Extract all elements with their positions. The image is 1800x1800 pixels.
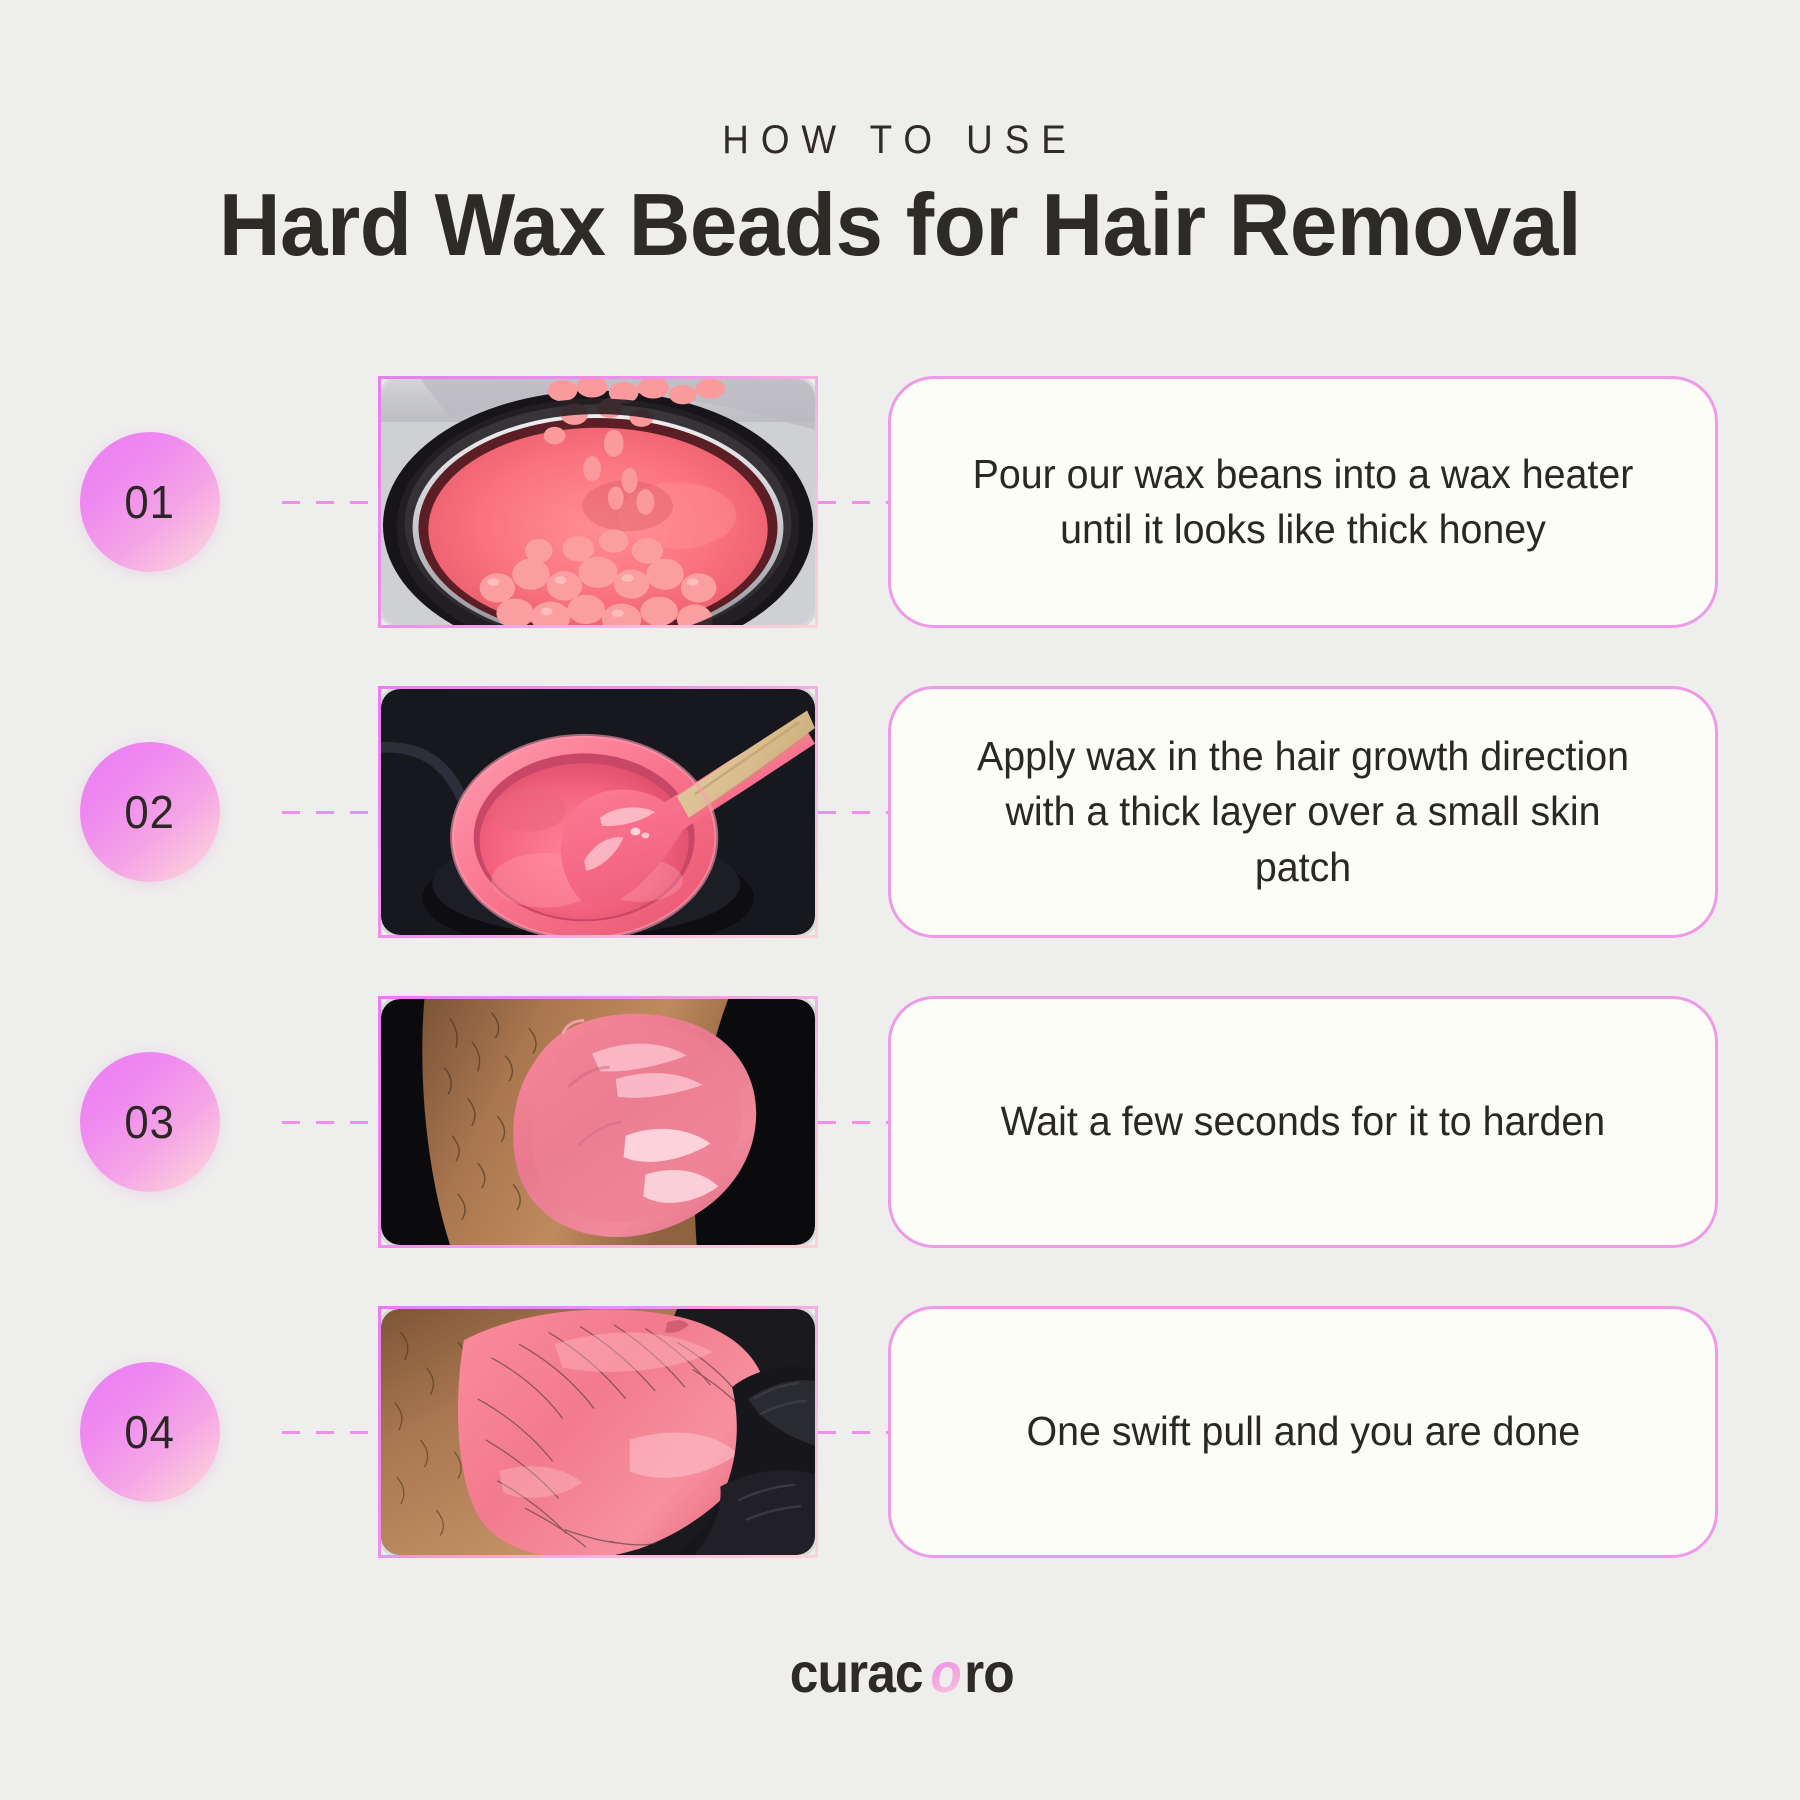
step-row-04: 04 xyxy=(0,1298,1800,1566)
step-photo-02-frame xyxy=(381,689,815,935)
hardened-wax-strip-being-pulled-photo xyxy=(381,1309,815,1555)
wax-heater-pot-with-beads-pouring-photo xyxy=(381,379,815,625)
step-photo-04-frame xyxy=(381,1309,815,1555)
step-row-02: 02 xyxy=(0,678,1800,946)
page-header: HOW TO USE Hard Wax Beads for Hair Remov… xyxy=(0,118,1800,275)
steps-list: 01 xyxy=(0,368,1800,1566)
step-photo-01 xyxy=(378,376,818,628)
step-number-label: 03 xyxy=(125,1095,176,1149)
step-number-label: 02 xyxy=(125,785,176,839)
logo-accent-letter: o xyxy=(930,1640,961,1705)
logo-suffix: ro xyxy=(964,1640,1014,1705)
connector-dash-right-03 xyxy=(818,1121,888,1124)
connector-dash-right-02 xyxy=(818,811,888,814)
connector-dash-right-01 xyxy=(818,501,888,504)
badge-slot-02: 02 xyxy=(0,742,300,882)
step-photo-02 xyxy=(378,686,818,938)
step-text-03: Wait a few seconds for it to harden xyxy=(1001,1094,1606,1149)
step-card-03[interactable]: Wait a few seconds for it to harden xyxy=(888,996,1718,1248)
step-row-01: 01 xyxy=(0,368,1800,636)
logo-prefix: curac xyxy=(790,1640,923,1705)
step-card-04[interactable]: One swift pull and you are done xyxy=(888,1306,1718,1558)
step-photo-03 xyxy=(378,996,818,1248)
step-number-label: 04 xyxy=(125,1405,176,1459)
badge-slot-01: 01 xyxy=(0,432,300,572)
step-photo-04 xyxy=(378,1306,818,1558)
step-badge-03[interactable]: 03 xyxy=(80,1052,220,1192)
step-text-02: Apply wax in the hair growth direction w… xyxy=(965,729,1641,895)
pink-wax-pot-with-wooden-spatula-photo xyxy=(381,689,815,935)
step-text-01: Pour our wax beans into a wax heater unt… xyxy=(965,447,1641,558)
step-badge-02[interactable]: 02 xyxy=(80,742,220,882)
badge-slot-04: 04 xyxy=(0,1362,300,1502)
brand-logo[interactable]: curacoro xyxy=(0,1640,1800,1705)
step-badge-01[interactable]: 01 xyxy=(80,432,220,572)
step-card-02[interactable]: Apply wax in the hair growth direction w… xyxy=(888,686,1718,938)
step-photo-03-frame xyxy=(381,999,815,1245)
step-badge-04[interactable]: 04 xyxy=(80,1362,220,1502)
badge-slot-03: 03 xyxy=(0,1052,300,1192)
page-title: Hard Wax Beads for Hair Removal xyxy=(27,176,1773,275)
step-text-04: One swift pull and you are done xyxy=(1026,1404,1580,1459)
eyebrow-text: HOW TO USE xyxy=(72,118,1728,162)
infographic-page: HOW TO USE Hard Wax Beads for Hair Remov… xyxy=(0,0,1800,1800)
step-photo-01-frame xyxy=(381,379,815,625)
connector-dash-right-04 xyxy=(818,1431,888,1434)
step-card-01[interactable]: Pour our wax beans into a wax heater unt… xyxy=(888,376,1718,628)
wax-applied-on-arm-skin-photo xyxy=(381,999,815,1245)
step-row-03: 03 xyxy=(0,988,1800,1256)
step-number-label: 01 xyxy=(125,475,176,529)
